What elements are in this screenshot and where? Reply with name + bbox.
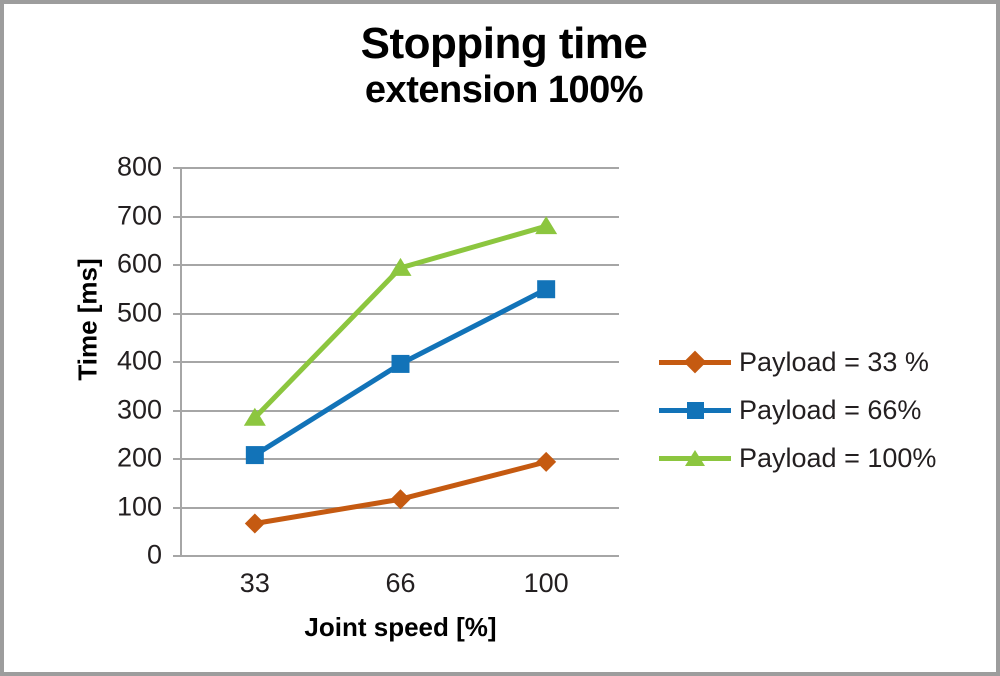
legend-label: Payload = 33 % [739, 347, 929, 378]
y-axis-tick-label: 200 [90, 443, 162, 474]
y-axis-tick-label: 500 [90, 297, 162, 328]
x-axis-tick-label: 100 [486, 568, 606, 599]
chart-legend: Payload = 33 %Payload = 66%Payload = 100… [659, 338, 989, 482]
diamond-marker [536, 452, 556, 472]
y-axis-tick-label: 800 [90, 152, 162, 183]
triangle-marker [535, 216, 557, 234]
diamond-marker [391, 489, 411, 509]
chart-title: Stopping time extension 100% [184, 22, 824, 110]
y-axis-tick-label: 0 [90, 540, 162, 571]
legend-key [659, 398, 731, 422]
diamond-marker [245, 513, 265, 533]
plot-area [182, 167, 619, 555]
legend-item[interactable]: Payload = 100% [659, 434, 989, 482]
square-marker [392, 355, 410, 373]
series-triangle [244, 216, 557, 426]
chart-title-line-1: Stopping time [184, 22, 824, 67]
legend-label: Payload = 66% [739, 395, 921, 426]
y-axis-tick-label: 300 [90, 394, 162, 425]
y-axis-tick [173, 313, 182, 315]
y-axis-tick [173, 458, 182, 460]
y-axis-tick [173, 555, 182, 557]
y-axis-tick [173, 216, 182, 218]
square-marker [246, 446, 264, 464]
legend-diamond-icon [684, 351, 707, 374]
y-axis-tick [173, 507, 182, 509]
legend-square-icon [687, 402, 704, 419]
y-axis-tick [173, 167, 182, 169]
y-axis-tick-label: 100 [90, 491, 162, 522]
chart-frame: Stopping time extension 100% Time [ms] 8… [0, 0, 1000, 676]
y-axis-tick [173, 361, 182, 363]
y-axis-tick-label: 400 [90, 346, 162, 377]
y-axis-tick-label: 600 [90, 249, 162, 280]
y-axis-tick-label: 700 [90, 200, 162, 231]
data-series-layer [182, 167, 619, 557]
square-marker [537, 280, 555, 298]
y-axis-tick [173, 410, 182, 412]
legend-key [659, 446, 731, 470]
x-axis-title: Joint speed [%] [182, 612, 619, 643]
y-axis-tick [173, 264, 182, 266]
legend-item[interactable]: Payload = 33 % [659, 338, 989, 386]
x-axis-tick-label: 66 [341, 568, 461, 599]
series-diamond [245, 452, 556, 534]
legend-item[interactable]: Payload = 66% [659, 386, 989, 434]
legend-key [659, 350, 731, 374]
chart-title-line-2: extension 100% [184, 71, 824, 110]
x-axis-tick-label: 33 [195, 568, 315, 599]
series-square [246, 280, 555, 464]
series-line [255, 226, 546, 418]
legend-triangle-icon [685, 450, 705, 466]
legend-label: Payload = 100% [739, 443, 936, 474]
